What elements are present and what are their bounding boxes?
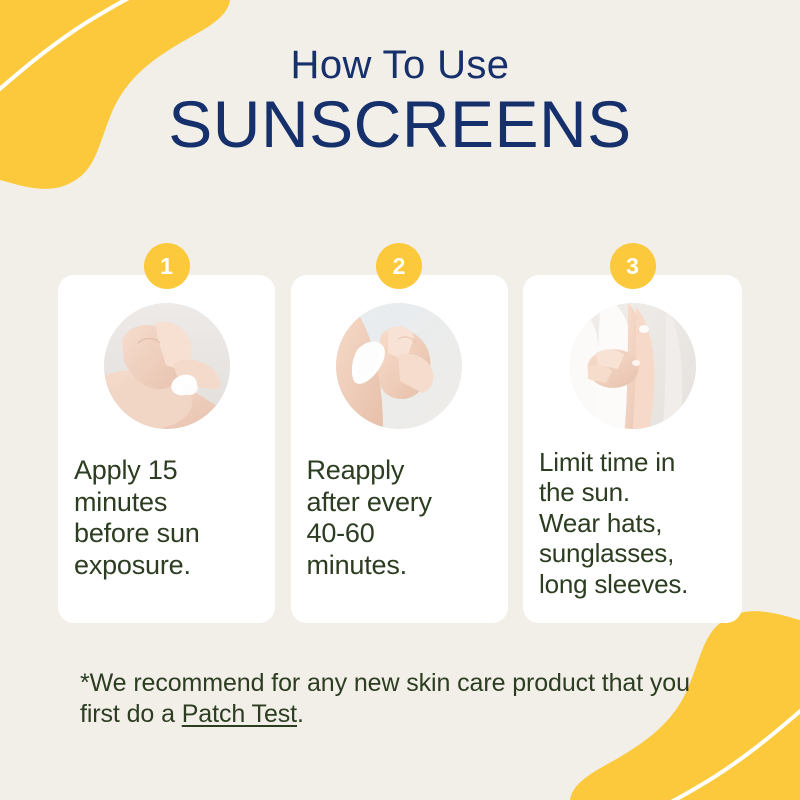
step-number-badge-3: 3 xyxy=(610,243,656,289)
steps-row: 1 xyxy=(58,243,742,623)
step-number-badge-2: 2 xyxy=(376,243,422,289)
poster-canvas: How To Use SUNSCREENS 1 xyxy=(0,0,800,800)
footer-note-period: . xyxy=(297,700,304,728)
step-caption-2: Reapply after every 40-60 minutes. xyxy=(307,455,492,581)
step-card-body-1: Apply 15 minutes before sun exposure. xyxy=(58,275,275,623)
step-caption-1: Apply 15 minutes before sun exposure. xyxy=(74,455,259,581)
step-photo-2 xyxy=(336,303,462,429)
step-card-body-3: Limit time in the sun. Wear hats, sungla… xyxy=(523,275,742,623)
step-card-3: 3 xyxy=(523,243,742,623)
page-title: SUNSCREENS xyxy=(0,89,800,160)
step-card-1: 1 xyxy=(58,243,275,623)
footer-note-text: *We recommend for any new skin care prod… xyxy=(80,669,690,728)
patch-test-link[interactable]: Patch Test xyxy=(182,700,297,728)
step-caption-3: Limit time in the sun. Wear hats, sungla… xyxy=(539,447,726,599)
poster-header: How To Use SUNSCREENS xyxy=(0,44,800,160)
step-photo-1 xyxy=(104,303,230,429)
step-card-2: 2 xyxy=(291,243,508,623)
step-number-badge-1: 1 xyxy=(144,243,190,289)
step-photo-3 xyxy=(570,303,696,429)
footer-note: *We recommend for any new skin care prod… xyxy=(80,668,725,729)
page-eyebrow: How To Use xyxy=(0,44,800,87)
step-card-body-2: Reapply after every 40-60 minutes. xyxy=(291,275,508,623)
